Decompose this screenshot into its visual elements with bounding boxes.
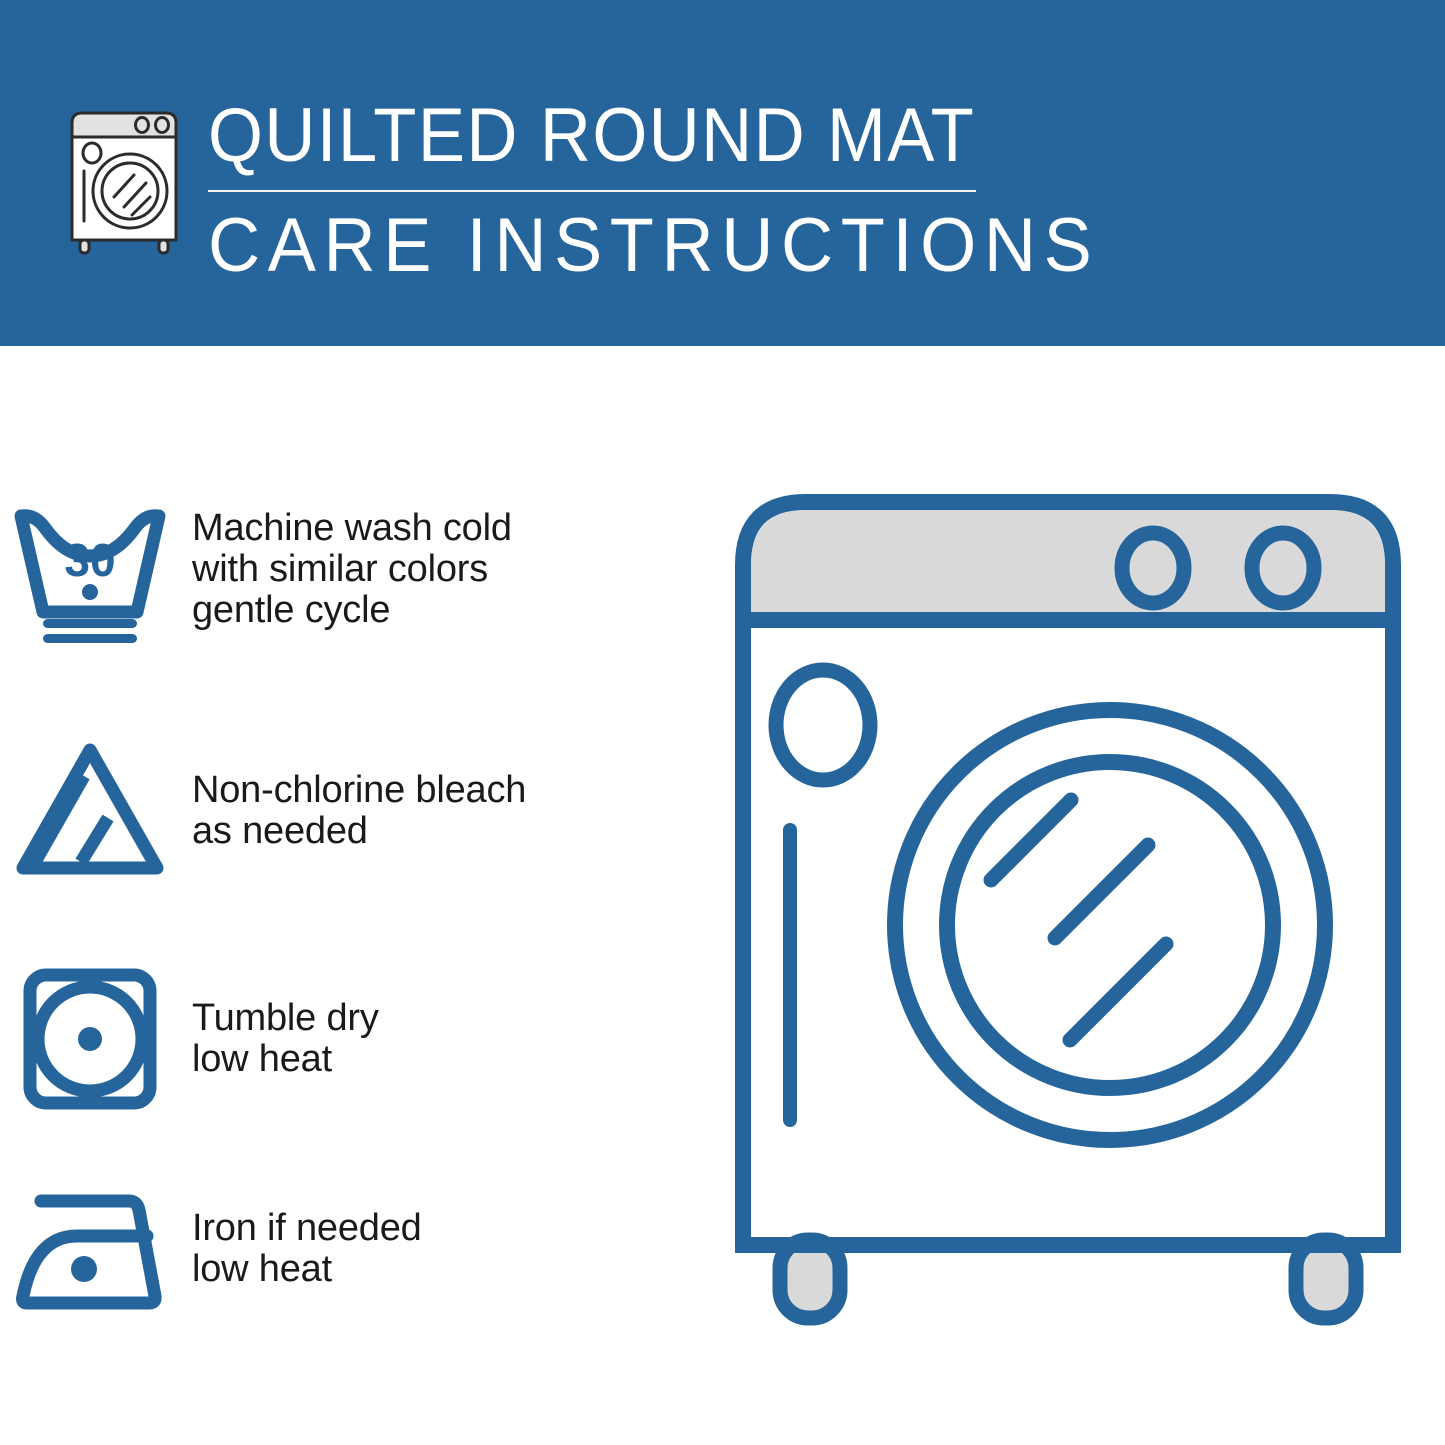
detergent-port xyxy=(776,670,870,780)
care-line: with similar colors xyxy=(192,549,512,590)
page-title: QUILTED ROUND MAT xyxy=(208,95,952,177)
care-instructions-page: QUILTED ROUND MAT CARE INSTRUCTIONS 30 M… xyxy=(0,0,1445,1445)
header-text-block: QUILTED ROUND MAT CARE INSTRUCTIONS xyxy=(208,95,1008,288)
tumble-dry-low-heat-icon xyxy=(0,964,180,1114)
care-item-bleach: Non-chlorine bleach as needed xyxy=(0,736,700,886)
care-line: Tumble dry xyxy=(192,998,379,1039)
care-item-text: Machine wash cold with similar colors ge… xyxy=(180,508,512,631)
care-item-text: Iron if needed low heat xyxy=(180,1208,422,1290)
care-item-iron: Iron if needed low heat xyxy=(0,1174,700,1324)
page-subtitle: CARE INSTRUCTIONS xyxy=(208,204,968,288)
washing-machine-logo-icon xyxy=(62,103,186,255)
header-band: QUILTED ROUND MAT CARE INSTRUCTIONS xyxy=(0,0,1445,346)
care-line: low heat xyxy=(192,1039,379,1080)
care-item-machine-wash: 30 Machine wash cold with similar colors… xyxy=(0,494,700,644)
iron-low-heat-icon xyxy=(0,1174,180,1324)
care-line: Non-chlorine bleach xyxy=(192,770,526,811)
care-item-text: Tumble dry low heat xyxy=(180,998,379,1080)
wash-tub-30-gentle-icon: 30 xyxy=(0,494,180,644)
care-line: as needed xyxy=(192,811,526,852)
washing-machine-illustration xyxy=(718,470,1418,1370)
care-item-tumble-dry: Tumble dry low heat xyxy=(0,964,700,1114)
care-line: gentle cycle xyxy=(192,590,512,631)
care-line: low heat xyxy=(192,1249,422,1290)
control-knob-right xyxy=(1252,533,1314,603)
control-knob-left xyxy=(1122,533,1184,603)
title-divider xyxy=(208,190,976,192)
care-item-text: Non-chlorine bleach as needed xyxy=(180,770,526,852)
wash-temperature-label: 30 xyxy=(64,534,115,586)
non-chlorine-bleach-triangle-icon xyxy=(0,736,180,886)
care-line: Machine wash cold xyxy=(192,508,512,549)
care-instruction-list: 30 Machine wash cold with similar colors… xyxy=(0,346,700,1445)
care-line: Iron if needed xyxy=(192,1208,422,1249)
